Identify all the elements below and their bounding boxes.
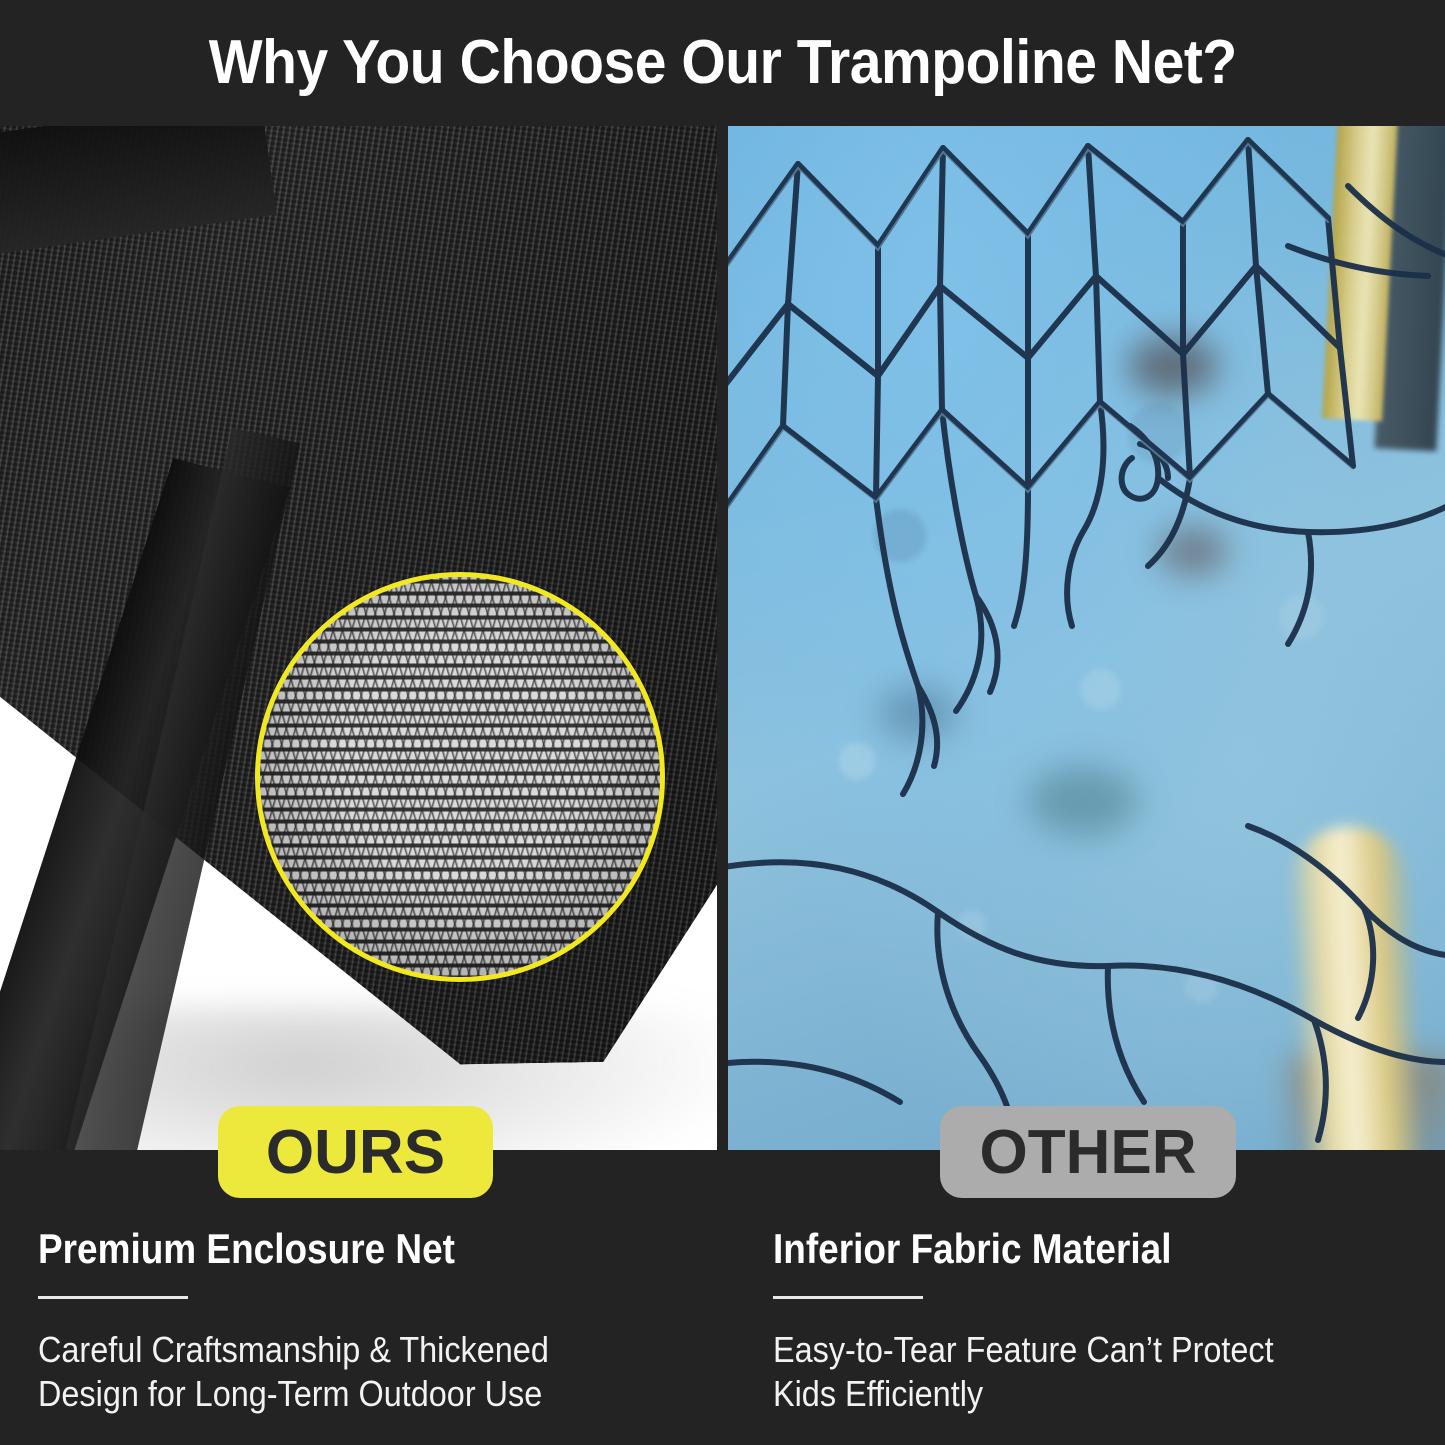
ours-badge: OURS [218,1106,493,1198]
other-divider-rule [773,1296,923,1299]
ours-net-photo [0,126,717,1150]
magnifier-vignette [260,577,660,977]
ours-badge-label: OURS [266,1117,445,1188]
ours-image-panel [0,126,717,1150]
other-feature-description: Easy-to-Tear Feature Can’t Protect Kids … [773,1328,1421,1416]
header-bar: Why You Choose Our Trampoline Net? [0,0,1445,126]
comparison-descriptions: Premium Enclosure Net Careful Craftsmans… [0,1150,1445,1445]
comparison-infographic: Why You Choose Our Trampoline Net? [0,0,1445,1445]
ours-feature-title: Premium Enclosure Net [38,1228,455,1270]
comparison-images [0,126,1445,1150]
ours-feature-description: Careful Craftsmanship & Thickened Design… [38,1328,686,1416]
other-image-panel [728,126,1445,1150]
torn-net-strands [728,126,1445,1150]
other-net-photo [728,126,1445,1150]
other-feature-title: Inferior Fabric Material [773,1228,1171,1270]
magnifier-circle [255,572,665,982]
panel-divider [717,126,728,1150]
page-title: Why You Choose Our Trampoline Net? [208,32,1236,94]
other-badge: OTHER [940,1106,1236,1198]
other-badge-label: OTHER [980,1117,1197,1188]
ours-divider-rule [38,1296,188,1299]
